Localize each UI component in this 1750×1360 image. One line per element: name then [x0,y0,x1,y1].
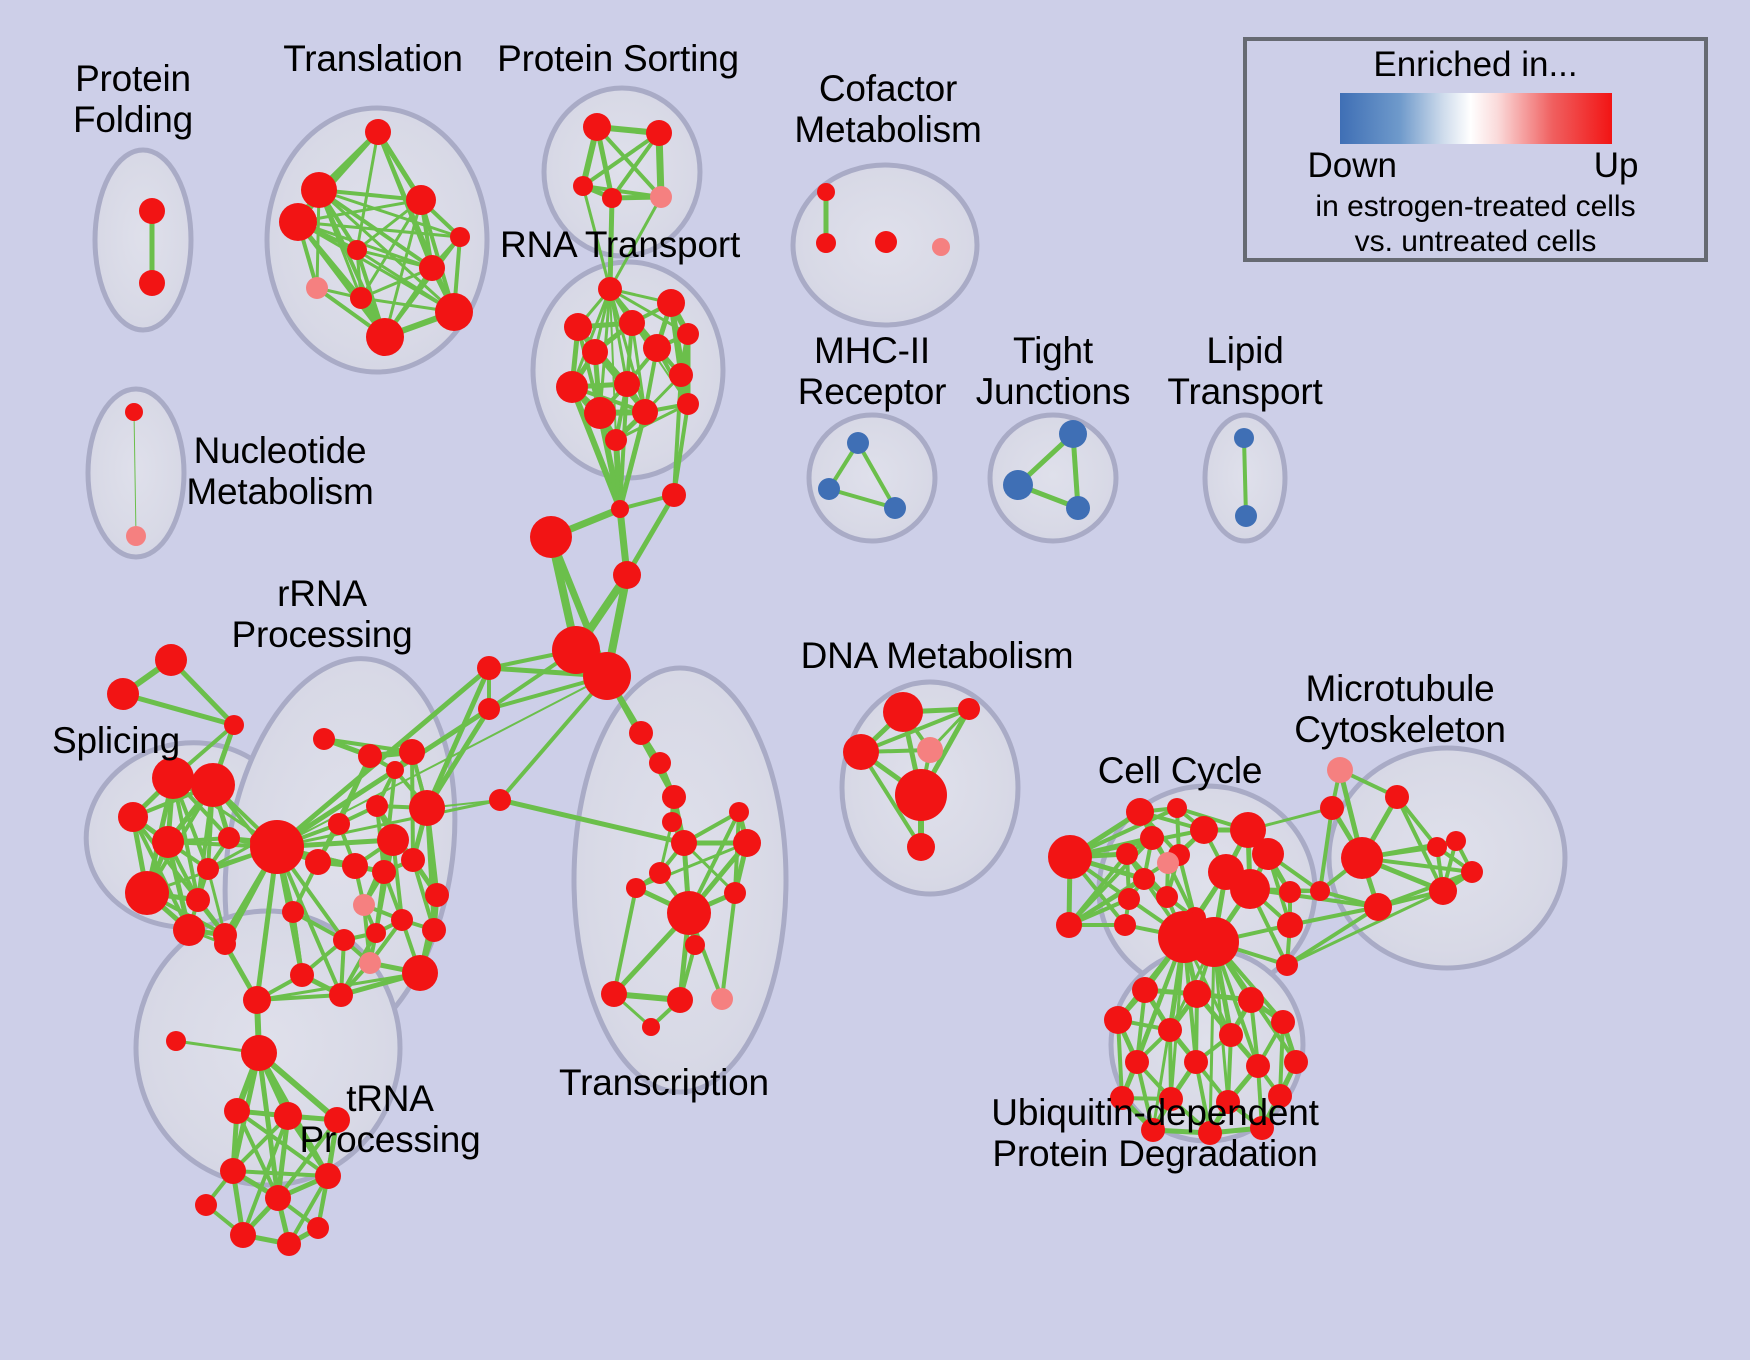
network-node[interactable] [125,871,169,915]
network-node[interactable] [958,698,980,720]
network-node[interactable] [1198,1121,1222,1145]
cluster-ellipse-tx [574,668,786,1092]
network-node[interactable] [1246,1054,1270,1078]
network-node[interactable] [173,914,205,946]
network-node[interactable] [1066,496,1090,520]
network-node[interactable] [1284,1050,1308,1074]
network-node[interactable] [583,113,611,141]
network-node[interactable] [1132,977,1158,1003]
network-node[interactable] [230,1222,256,1248]
network-node[interactable] [816,233,836,253]
network-node[interactable] [724,882,746,904]
network-node[interactable] [409,790,445,826]
network-node[interactable] [425,883,449,907]
network-node[interactable] [1327,757,1353,783]
network-node[interactable] [649,752,671,774]
network-node[interactable] [847,432,869,454]
legend-panel: Enriched in... Down Up in estrogen-treat… [1243,37,1708,262]
network-node[interactable] [282,901,304,923]
network-node[interactable] [564,313,592,341]
network-node[interactable] [1118,888,1140,910]
network-node[interactable] [1126,798,1154,826]
network-node[interactable] [1234,428,1254,448]
legend-title: Enriched in... [1247,45,1704,85]
network-node[interactable] [277,1232,301,1256]
network-node[interactable] [315,1163,341,1189]
network-node[interactable] [1268,1084,1292,1108]
network-node[interactable] [1216,1090,1240,1114]
network-node[interactable] [1059,420,1087,448]
network-node[interactable] [358,744,382,768]
network-node[interactable] [366,318,404,356]
network-node[interactable] [301,172,337,208]
network-node[interactable] [643,334,671,362]
network-node[interactable] [932,238,950,256]
network-node[interactable] [1235,505,1257,527]
network-node[interactable] [1159,1087,1183,1111]
network-node[interactable] [478,698,500,720]
network-node[interactable] [139,270,165,296]
network-node[interactable] [646,120,672,146]
network-node[interactable] [662,812,682,832]
network-node[interactable] [359,952,381,974]
network-node[interactable] [1183,980,1211,1008]
network-node[interactable] [307,1217,329,1239]
network-node[interactable] [274,1102,302,1130]
network-node[interactable] [218,827,240,849]
network-node[interactable] [642,1018,660,1036]
network-edge [1244,438,1246,516]
network-node[interactable] [366,923,386,943]
network-node[interactable] [377,824,409,856]
network-node[interactable] [1364,893,1392,921]
network-node[interactable] [1427,837,1447,857]
network-node[interactable] [1048,835,1092,879]
network-node[interactable] [419,255,445,281]
network-node[interactable] [350,287,372,309]
network-node[interactable] [733,829,761,857]
network-node[interactable] [186,888,210,912]
network-node[interactable] [1156,886,1178,908]
network-node[interactable] [126,526,146,546]
network-node[interactable] [573,176,593,196]
network-node[interactable] [650,186,672,208]
network-node[interactable] [602,188,622,208]
network-node[interactable] [1310,881,1330,901]
legend-endpoint-labels: Down Up [1311,146,1641,190]
network-node[interactable] [118,802,148,832]
network-node[interactable] [729,802,749,822]
legend-color-gradient-bar [1340,93,1612,144]
network-node[interactable] [1461,861,1483,883]
network-node[interactable] [1252,838,1284,870]
network-node[interactable] [195,1194,217,1216]
network-node[interactable] [907,833,935,861]
legend-down-label: Down [1308,146,1397,186]
network-node[interactable] [1238,987,1264,1013]
network-node[interactable] [324,1107,350,1133]
network-node[interactable] [401,848,425,872]
network-node[interactable] [611,500,629,518]
network-node[interactable] [875,231,897,253]
network-node[interactable] [450,227,470,247]
network-node[interactable] [386,761,404,779]
network-node[interactable] [657,289,685,317]
network-node[interactable] [1250,1116,1274,1140]
network-node[interactable] [406,185,436,215]
cluster-ellipse-mhc [809,415,935,541]
network-node[interactable] [583,652,631,700]
network-node[interactable] [1184,1050,1208,1074]
network-node[interactable] [329,983,353,1007]
network-node[interactable] [402,955,438,991]
network-node[interactable] [422,918,446,942]
network-node[interactable] [1116,843,1138,865]
network-node[interactable] [685,935,705,955]
network-node[interactable] [489,789,511,811]
network-node[interactable] [152,826,184,858]
network-node[interactable] [1230,869,1270,909]
network-node[interactable] [250,820,304,874]
network-node[interactable] [614,371,640,397]
network-node[interactable] [613,561,641,589]
network-node[interactable] [1158,1018,1182,1042]
network-node[interactable] [279,203,317,241]
network-node[interactable] [166,1031,186,1051]
network-node[interactable] [677,323,699,345]
network-node[interactable] [818,478,840,500]
network-node[interactable] [1276,954,1298,976]
network-node[interactable] [224,715,244,735]
network-node[interactable] [667,987,693,1013]
network-node[interactable] [1104,1006,1132,1034]
network-node[interactable] [671,830,697,856]
network-node[interactable] [1140,826,1164,850]
network-node[interactable] [711,988,733,1010]
network-node[interactable] [884,497,906,519]
network-node[interactable] [632,399,658,425]
network-node[interactable] [1133,868,1155,890]
network-node[interactable] [1157,852,1179,874]
network-node[interactable] [626,878,646,898]
network-node[interactable] [477,656,501,680]
network-node[interactable] [1114,914,1136,936]
network-node[interactable] [584,397,616,429]
network-node[interactable] [214,933,236,955]
network-node[interactable] [1279,881,1301,903]
network-node[interactable] [1189,917,1239,967]
network-figure: Protein FoldingTranslationProtein Sortin… [0,0,1750,1360]
network-node[interactable] [191,763,235,807]
network-node[interactable] [1446,831,1466,851]
network-node[interactable] [306,277,328,299]
network-node[interactable] [669,363,693,387]
network-node[interactable] [917,737,943,763]
network-node[interactable] [305,849,331,875]
network-node[interactable] [1429,877,1457,905]
network-node[interactable] [598,277,622,301]
network-node[interactable] [347,240,367,260]
network-node[interactable] [1167,798,1187,818]
network-node[interactable] [366,795,388,817]
network-node[interactable] [582,339,608,365]
network-node[interactable] [243,986,271,1014]
network-node[interactable] [265,1185,291,1211]
network-node[interactable] [1056,912,1082,938]
network-node[interactable] [1385,785,1409,809]
network-node[interactable] [1190,816,1218,844]
network-node[interactable] [1141,1118,1165,1142]
network-node[interactable] [155,644,187,676]
network-node[interactable] [649,862,671,884]
network-node[interactable] [1277,912,1303,938]
network-node[interactable] [435,293,473,331]
network-node[interactable] [391,909,413,931]
network-node[interactable] [605,429,627,451]
network-node[interactable] [1320,796,1344,820]
network-node[interactable] [290,963,314,987]
network-node[interactable] [399,739,425,765]
network-node[interactable] [629,721,653,745]
network-node[interactable] [530,516,572,558]
network-node[interactable] [220,1158,246,1184]
cluster-ellipse-ps [544,88,700,256]
network-node[interactable] [1341,837,1383,879]
network-node[interactable] [107,678,139,710]
network-node[interactable] [895,769,947,821]
legend-up-label: Up [1594,146,1639,186]
network-node[interactable] [1003,470,1033,500]
network-node[interactable] [662,785,686,809]
network-node[interactable] [1219,1023,1243,1047]
network-node[interactable] [677,393,699,415]
network-node[interactable] [125,403,143,421]
network-node[interactable] [372,860,396,884]
network-node[interactable] [152,757,194,799]
network-node[interactable] [313,728,335,750]
network-node[interactable] [197,858,219,880]
network-node[interactable] [556,371,588,403]
network-node[interactable] [333,929,355,951]
network-node[interactable] [601,981,627,1007]
network-node[interactable] [139,198,165,224]
network-node[interactable] [1125,1050,1149,1074]
network-node[interactable] [817,183,835,201]
network-edge [610,198,612,289]
network-node[interactable] [353,894,375,916]
network-node[interactable] [342,853,368,879]
cluster-ellipse-pf [95,150,191,330]
legend-sublabel: in estrogen-treated cells vs. untreated … [1247,190,1704,260]
network-node[interactable] [667,891,711,935]
network-node[interactable] [328,813,350,835]
network-node[interactable] [883,692,923,732]
network-node[interactable] [1271,1010,1295,1034]
network-node[interactable] [662,483,686,507]
network-node[interactable] [843,734,879,770]
network-node[interactable] [224,1098,250,1124]
network-node[interactable] [619,310,645,336]
network-node[interactable] [241,1035,277,1071]
network-node[interactable] [365,119,391,145]
network-node[interactable] [1110,1086,1134,1110]
